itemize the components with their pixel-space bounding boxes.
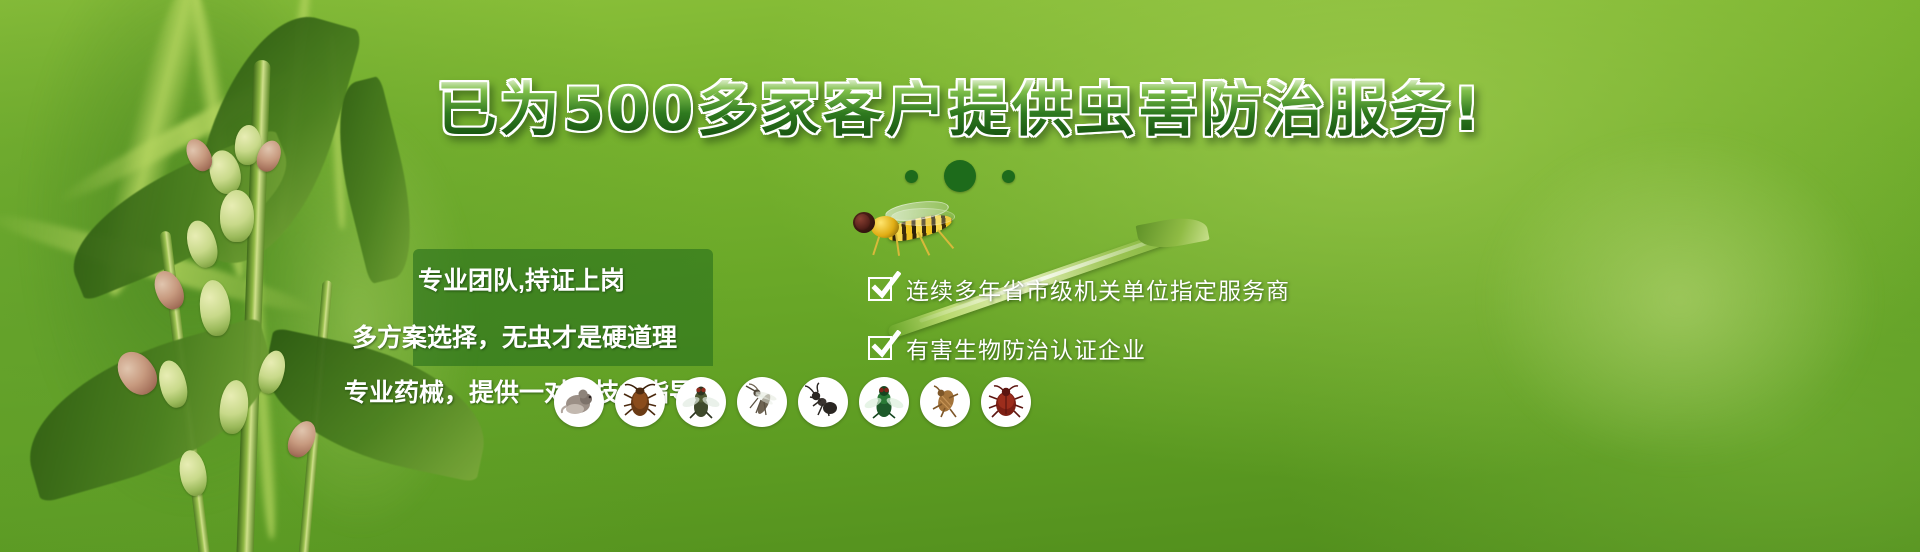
mouse-icon[interactable]: [554, 377, 604, 427]
fly-eye: [855, 214, 870, 230]
certification-checklist: 连续多年省市级机关单位指定服务商 有害生物防治认证企业: [868, 272, 1290, 390]
checkbox-checked-icon: [868, 277, 892, 301]
hoverfly-photo: [845, 200, 965, 258]
headline-dot-divider: [0, 160, 1920, 192]
plant-bud: [220, 190, 254, 242]
blowfly-icon[interactable]: [859, 377, 909, 427]
checklist-item-label: 连续多年省市级机关单位指定服务商: [906, 272, 1290, 306]
pest-control-hero-banner: 已为500多家客户提供虫害防治服务! 专业团队,持证上岗 多方案选择，无虫才是硬…: [0, 0, 1920, 552]
large-dot-icon: [944, 160, 976, 192]
feature-line-1: 专业团队,持证上岗: [418, 261, 625, 297]
fly-leg: [937, 229, 954, 249]
ant-icon[interactable]: [798, 377, 848, 427]
background-bokeh-right: [1400, 60, 1920, 540]
bedbug-icon[interactable]: [981, 377, 1031, 427]
feature-line-2: 多方案选择，无虫才是硬道理: [352, 318, 677, 354]
small-dot-icon: [905, 170, 918, 183]
checkbox-checked-icon: [868, 336, 892, 360]
fly-icon[interactable]: [676, 377, 726, 427]
cockroach-icon[interactable]: [615, 377, 665, 427]
flea-icon[interactable]: [920, 377, 970, 427]
fly-thorax: [871, 216, 899, 238]
checklist-item: 有害生物防治认证企业: [868, 331, 1290, 365]
checklist-item: 连续多年省市级机关单位指定服务商: [868, 272, 1290, 306]
plant-bud: [176, 448, 210, 498]
mosquito-icon[interactable]: [737, 377, 787, 427]
checklist-item-label: 有害生物防治认证企业: [906, 331, 1146, 365]
plant-bud: [197, 279, 233, 338]
pest-icon-row: [554, 377, 1031, 427]
small-dot-icon: [1002, 170, 1015, 183]
